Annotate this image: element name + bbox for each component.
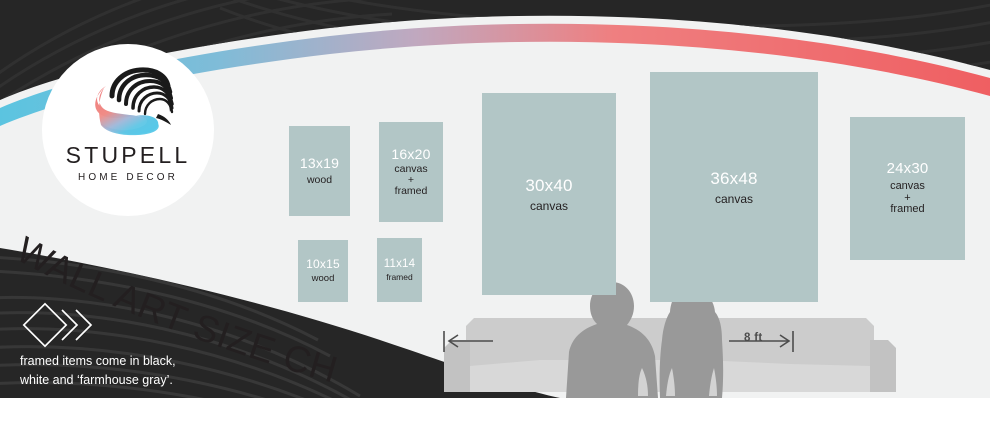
frame-36x48[interactable]: 36x48 canvas	[650, 72, 818, 302]
frame-kind-label: canvas + framed	[890, 181, 925, 216]
frame-size-label: 30x40	[525, 176, 572, 195]
frame-16x20[interactable]: 16x20 canvas + framed	[379, 122, 443, 222]
double-diamond-icon	[22, 302, 108, 348]
frame-size-label: 11x14	[384, 258, 415, 271]
frame-size-label: 10x15	[306, 258, 340, 271]
wall-art-size-chart-banner: WALL ART SIZE CHART 13x19 wood	[0, 0, 990, 422]
brand-logo-badge[interactable]: STUPELL HOME DECOR	[42, 44, 214, 216]
measurement-label: 8 ft	[744, 332, 762, 344]
note-text: framed items come in black, white and ‘f…	[20, 352, 260, 390]
frame-size-label: 16x20	[391, 147, 430, 163]
frame-kind-label: canvas	[715, 193, 753, 206]
brand-tagline: HOME DECOR	[78, 172, 178, 183]
frame-size-label: 13x19	[300, 156, 339, 172]
frame-kind-label: wood	[312, 274, 335, 284]
frame-kind-label: wood	[307, 175, 332, 186]
frame-13x19[interactable]: 13x19 wood	[289, 126, 350, 216]
frame-size-label: 24x30	[887, 161, 929, 178]
frame-11x14[interactable]: 11x14 framed	[377, 238, 422, 302]
frame-24x30[interactable]: 24x30 canvas + framed	[850, 117, 965, 260]
frame-kind-label: canvas + framed	[394, 164, 427, 197]
frame-kind-label: canvas	[530, 200, 568, 213]
sofa-arm-right	[870, 340, 896, 392]
stupell-swoosh-logo-icon	[76, 62, 180, 140]
sofa-arm-left	[444, 340, 470, 392]
brand-name: STUPELL	[66, 142, 191, 169]
frame-10x15[interactable]: 10x15 wood	[298, 240, 348, 302]
frame-kind-label: framed	[386, 273, 412, 282]
frame-size-label: 36x48	[710, 169, 757, 188]
frame-30x40[interactable]: 30x40 canvas	[482, 93, 616, 295]
